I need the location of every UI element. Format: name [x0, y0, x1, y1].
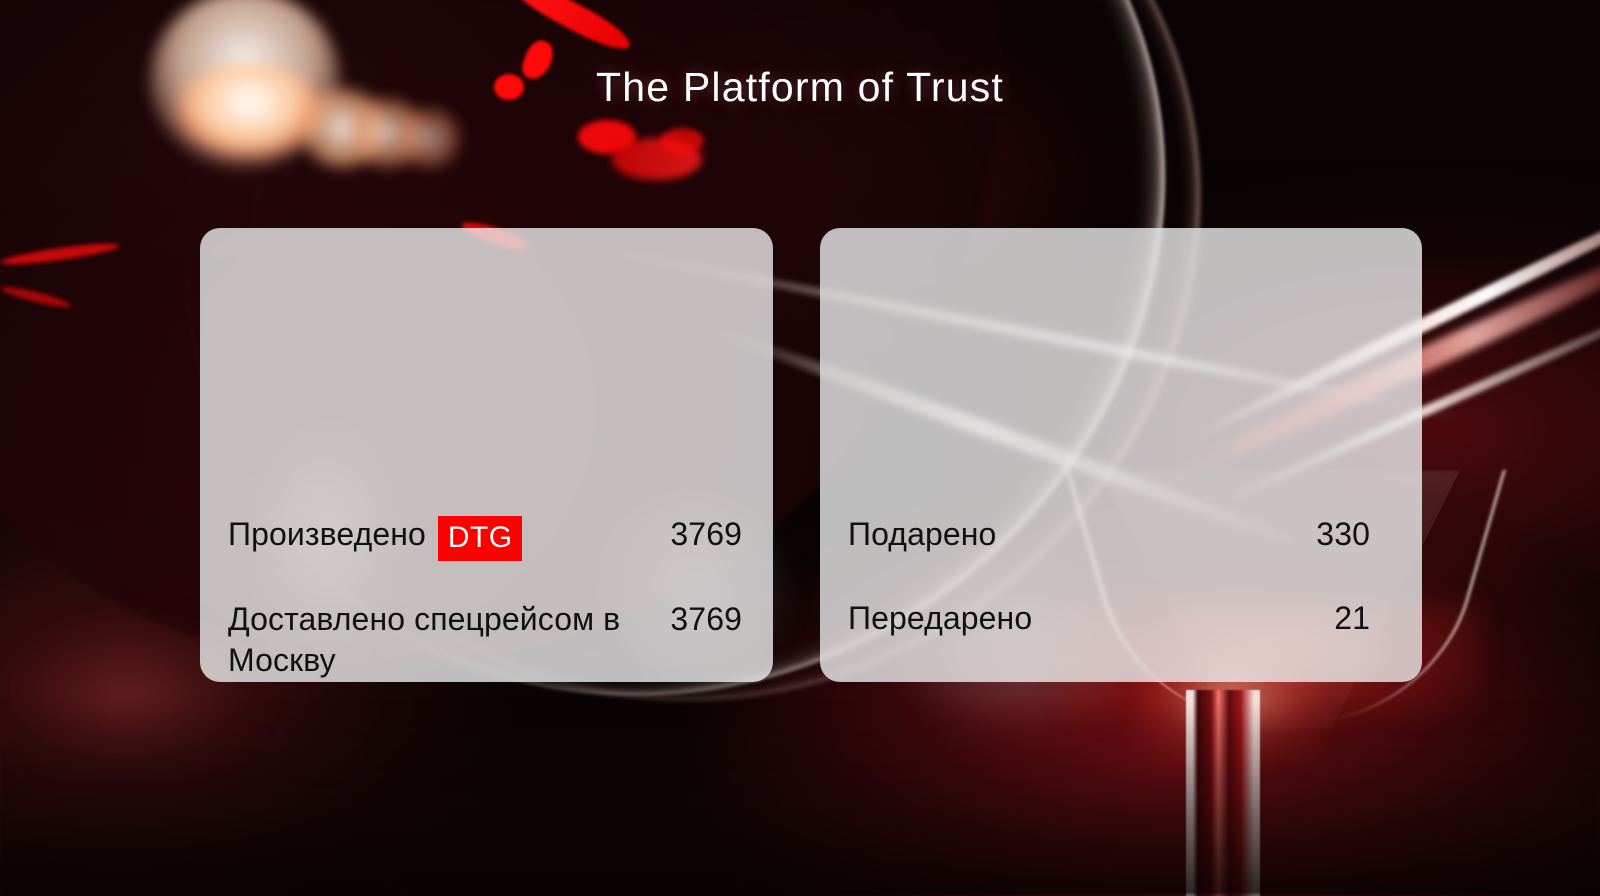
distribution-card-rows: Подарено 330 Передарено 21 Выпито 202 Вы…: [820, 228, 1422, 682]
stat-value-produced: 3769: [670, 514, 742, 555]
stat-label-delivered-wrapper: Доставлено спецрейсом в Москву: [228, 599, 658, 681]
stat-label-produced-wrapper: Произведено DTG: [228, 514, 522, 559]
stat-value-regifted: 21: [1334, 598, 1370, 639]
background-bottom-wine-glow: [0, 700, 1600, 896]
stat-row-gifted: Подарено 330: [848, 514, 1370, 555]
stat-label-gifted: Подарено: [848, 514, 996, 555]
stat-row-delivered: Доставлено спецрейсом в Москву 3769: [228, 599, 742, 681]
page-title: The Platform of Trust: [0, 64, 1600, 111]
stat-label-regifted-wrapper: Передарено: [848, 598, 1032, 639]
stat-row-regifted: Передарено 21: [848, 598, 1370, 639]
stat-label-regifted: Передарено: [848, 598, 1032, 639]
stat-row-drunk: Выпито 202: [848, 681, 1370, 682]
stat-label-delivered: Доставлено спецрейсом в Москву: [228, 599, 658, 681]
production-card: Произведено DTG 3769 Доставлено спецрейс…: [200, 228, 773, 682]
stat-label-drunk-wrapper: Выпито: [848, 681, 960, 682]
distribution-card: Подарено 330 Передарено 21 Выпито 202 Вы…: [820, 228, 1422, 682]
stat-label-drunk: Выпито: [848, 681, 960, 682]
stat-label-produced: Произведено: [228, 514, 426, 555]
stat-label-gifted-wrapper: Подарено: [848, 514, 996, 555]
bokeh-light-5: [398, 108, 460, 168]
stat-value-drunk: 202: [1316, 681, 1370, 682]
stat-row-produced: Произведено DTG 3769: [228, 514, 742, 559]
red-splash-6: [660, 128, 704, 154]
dtg-badge: DTG: [438, 516, 523, 561]
stat-value-delivered: 3769: [670, 599, 742, 640]
production-card-rows: Произведено DTG 3769 Доставлено спецрейс…: [200, 228, 773, 682]
stat-value-gifted: 330: [1316, 514, 1370, 555]
